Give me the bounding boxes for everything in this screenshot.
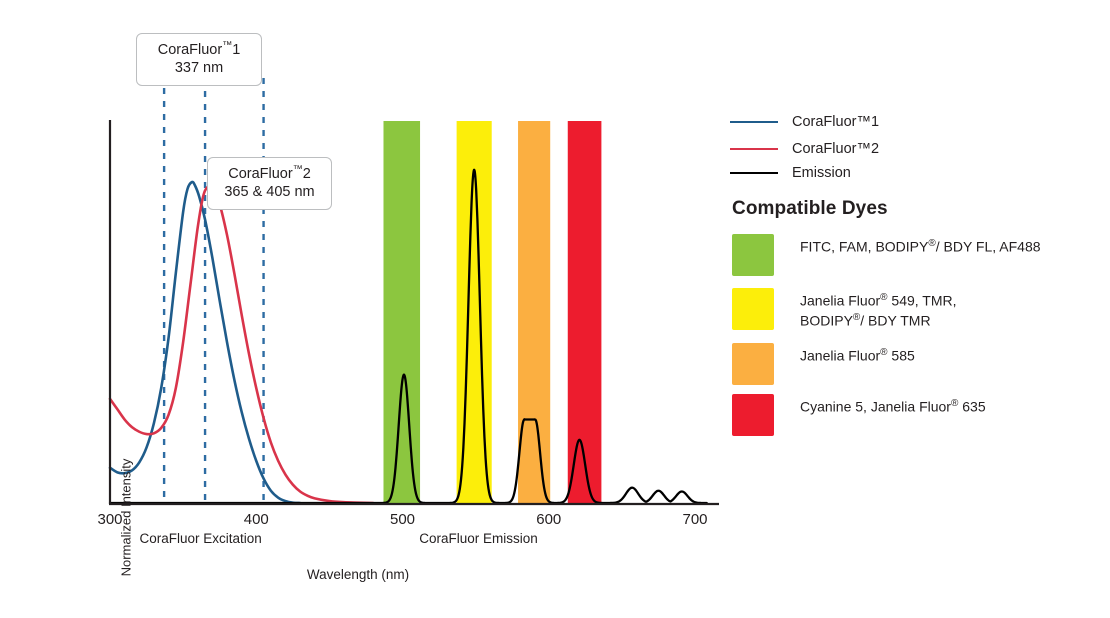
callout-corafluor1-index: 1 <box>232 42 240 58</box>
red-band <box>568 121 602 503</box>
x-tick-label-400: 400 <box>226 511 286 528</box>
green-band <box>383 121 420 503</box>
x-tick-label-700: 700 <box>665 511 725 528</box>
trademark-icon: ™ <box>222 40 232 51</box>
dye-red-label-line0: Cyanine 5, Janelia Fluor® 635 <box>800 397 986 417</box>
dye-yellow-label: Janelia Fluor® 549, TMR,BODIPY®/ BDY TMR <box>800 288 957 331</box>
dye-row-dye-yellow: Janelia Fluor® 549, TMR,BODIPY®/ BDY TMR <box>732 288 957 331</box>
legend-item-1: CoraFluor™2 <box>730 141 879 157</box>
dye-red-label: Cyanine 5, Janelia Fluor® 635 <box>800 394 986 417</box>
zone-label-emission: CoraFluor Emission <box>369 531 589 546</box>
legend-line-swatch <box>730 172 778 174</box>
callout-corafluor1-line1: CoraFluor™1 <box>158 42 241 58</box>
dye-row-dye-orange: Janelia Fluor® 585 <box>732 343 915 385</box>
callout-corafluor2-value: 365 & 405 nm <box>220 183 319 202</box>
x-tick-label-600: 600 <box>519 511 579 528</box>
dye-red-swatch <box>732 394 774 436</box>
dye-green-label: FITC, FAM, BODIPY®/ BDY FL, AF488 <box>800 234 1041 257</box>
callout-corafluor1-title: CoraFluor <box>158 42 222 58</box>
curve-corafluor2 <box>110 186 373 503</box>
dye-orange-label: Janelia Fluor® 585 <box>800 343 915 366</box>
legend-item-label: CoraFluor™1 <box>792 114 879 130</box>
callout-corafluor2: CoraFluor™2365 & 405 nm <box>207 157 332 210</box>
dye-yellow-swatch <box>732 288 774 330</box>
legend-item-0: CoraFluor™1 <box>730 114 879 130</box>
compatible-dyes-title: Compatible Dyes <box>732 198 888 220</box>
x-tick-label-500: 500 <box>373 511 433 528</box>
callout-corafluor1: CoraFluor™1337 nm <box>136 33 262 86</box>
x-tick-label-300: 300 <box>80 511 140 528</box>
legend-item-2: Emission <box>730 165 851 181</box>
callout-corafluor2-line1: CoraFluor™2 <box>228 166 311 182</box>
legend-item-label: CoraFluor™2 <box>792 141 879 157</box>
dye-green-swatch <box>732 234 774 276</box>
legend-item-label: Emission <box>792 165 851 181</box>
dye-row-dye-red: Cyanine 5, Janelia Fluor® 635 <box>732 394 986 436</box>
yellow-band <box>457 121 492 503</box>
callout-corafluor1-value: 337 nm <box>149 59 249 78</box>
dye-row-dye-green: FITC, FAM, BODIPY®/ BDY FL, AF488 <box>732 234 1041 276</box>
dye-yellow-label-line0: Janelia Fluor® 549, TMR, <box>800 291 957 311</box>
zone-label-excitation: CoraFluor Excitation <box>91 531 311 546</box>
x-axis-title: Wavelength (nm) <box>208 567 508 582</box>
orange-band <box>518 121 550 503</box>
chart-figure: Normalized Intensity 300400500600700 Cor… <box>0 0 1110 612</box>
legend-line-swatch <box>730 148 778 150</box>
dye-orange-swatch <box>732 343 774 385</box>
dye-orange-label-line0: Janelia Fluor® 585 <box>800 346 915 366</box>
dye-yellow-label-line1: BODIPY®/ BDY TMR <box>800 311 957 331</box>
callout-corafluor2-index: 2 <box>303 166 311 182</box>
y-axis-label-wrap: Normalized Intensity <box>60 210 84 410</box>
dye-green-label-line0: FITC, FAM, BODIPY®/ BDY FL, AF488 <box>800 237 1041 257</box>
legend-line-swatch <box>730 121 778 123</box>
trademark-icon: ™ <box>293 164 303 175</box>
callout-corafluor2-title: CoraFluor <box>228 166 292 182</box>
legend-panel: CoraFluor™1CoraFluor™2Emission Compatibl… <box>728 0 1110 612</box>
spectra-plot: Normalized Intensity 300400500600700 Cor… <box>0 0 720 612</box>
